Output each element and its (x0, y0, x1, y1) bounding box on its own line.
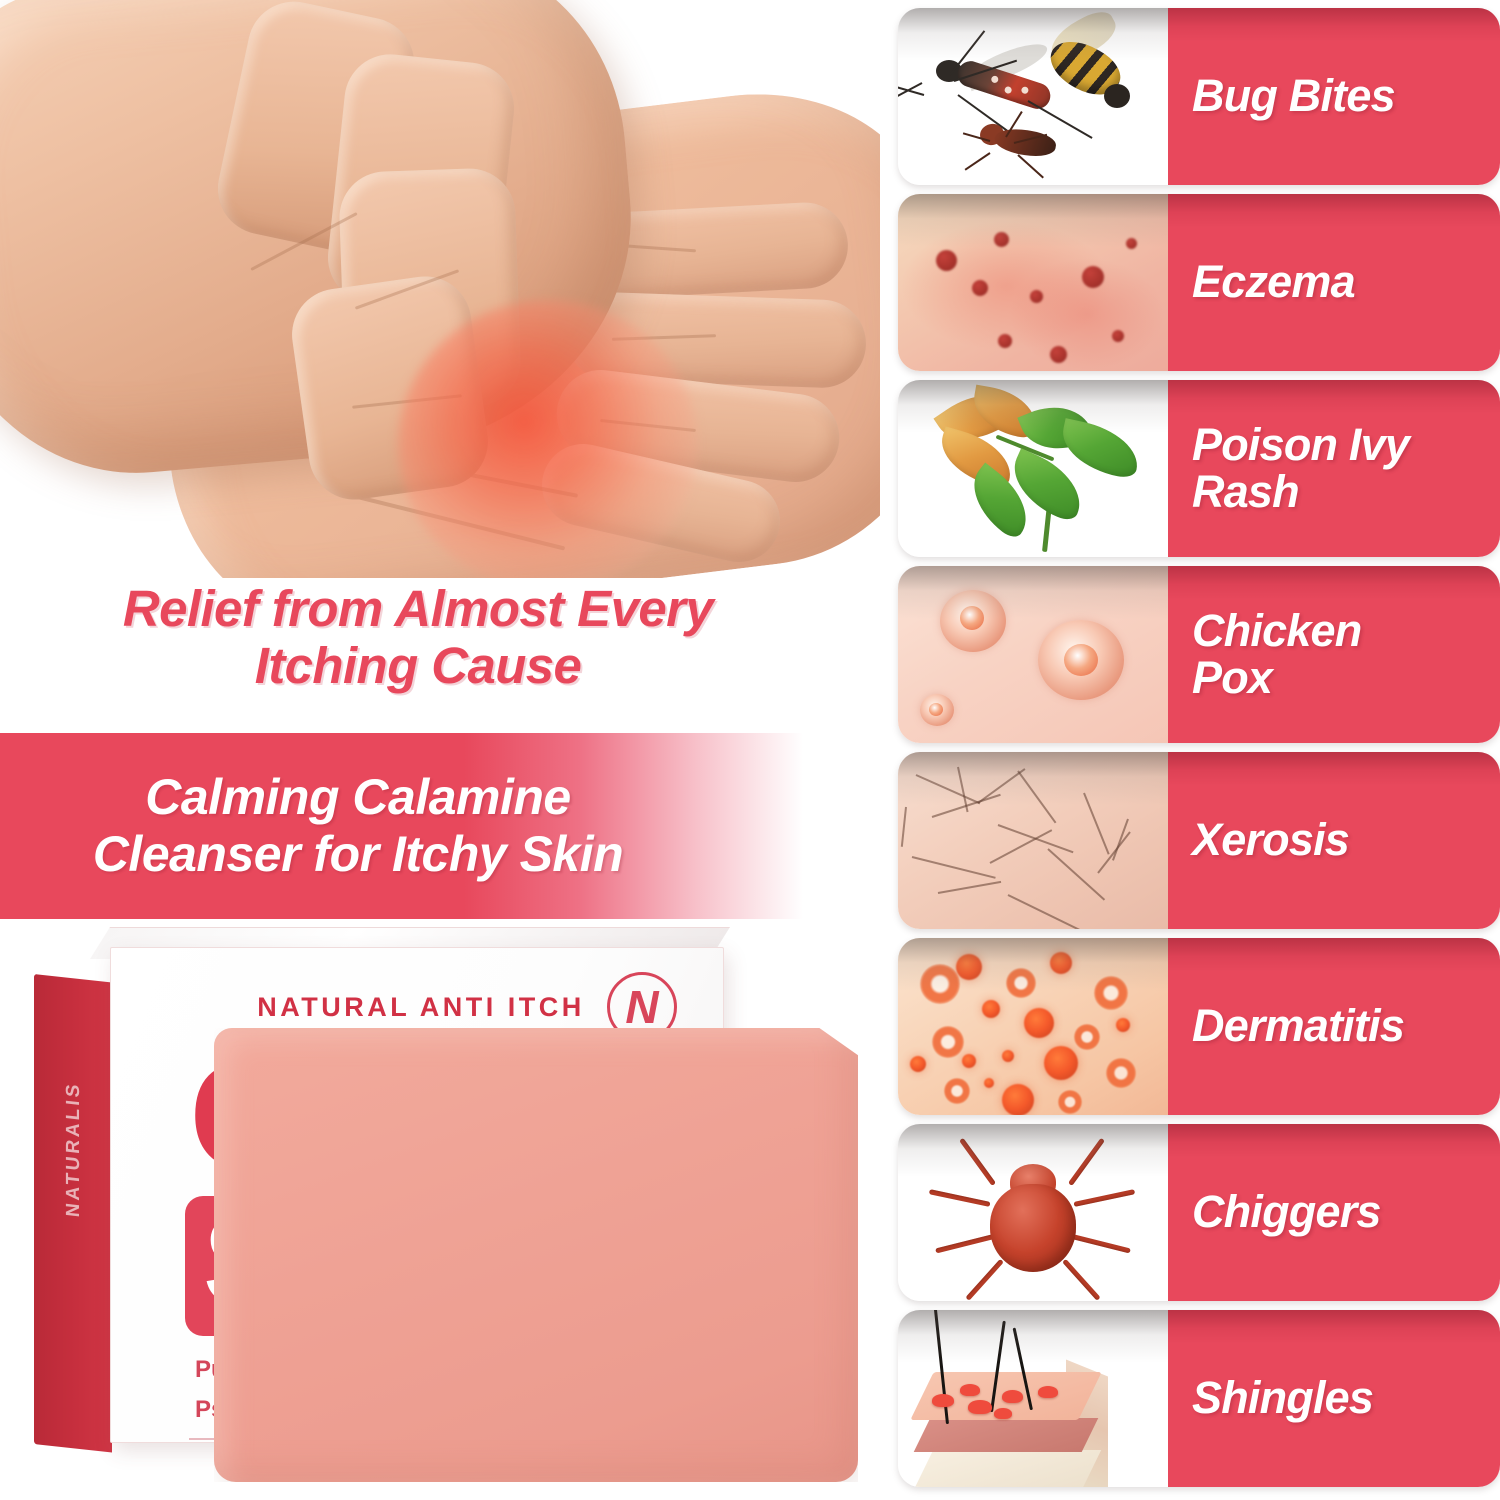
condition-label-wrap: Eczema (1168, 194, 1500, 371)
box-side-panel: NATURALIS (34, 974, 112, 1452)
conditions-list: Bug Bites Eczema (898, 8, 1500, 1496)
condition-label-wrap: Chiggers (1168, 1124, 1500, 1301)
condition-card-shingles[interactable]: Shingles (898, 1310, 1500, 1487)
condition-label: Xerosis (1192, 817, 1349, 864)
condition-label: Chiggers (1192, 1189, 1381, 1236)
itchy-hand-photo (0, 0, 880, 578)
condition-label-wrap: Chicken Pox (1168, 566, 1500, 743)
condition-card-chiggers[interactable]: Chiggers (898, 1124, 1500, 1301)
box-side-brand-text: NATURALIS (63, 1050, 85, 1248)
condition-card-xerosis[interactable]: Xerosis (898, 752, 1500, 929)
chigger-mite-icon (898, 1124, 1168, 1301)
calamine-soap-bar (214, 1028, 858, 1482)
headline-line-2: Itching Cause (18, 637, 818, 694)
dermatitis-skin-icon (898, 938, 1168, 1115)
condition-label-wrap: Xerosis (1168, 752, 1500, 929)
condition-label-wrap: Dermatitis (1168, 938, 1500, 1115)
condition-label-wrap: Shingles (1168, 1310, 1500, 1487)
condition-label: Eczema (1192, 259, 1355, 306)
condition-label: Poison Ivy Rash (1192, 422, 1409, 516)
shingles-skin-block-icon (898, 1310, 1168, 1487)
condition-label-wrap: Poison Ivy Rash (1168, 380, 1500, 557)
eczema-skin-icon (898, 194, 1168, 371)
promo-line-1: Calming Calamine (0, 769, 716, 826)
condition-card-poison-ivy-rash[interactable]: Poison Ivy Rash (898, 380, 1500, 557)
condition-card-eczema[interactable]: Eczema (898, 194, 1500, 371)
left-column: Relief from Almost Every Itching Cause C… (0, 0, 880, 1500)
promo-banner-text: Calming Calamine Cleanser for Itchy Skin (0, 769, 716, 883)
promo-banner: Calming Calamine Cleanser for Itchy Skin (0, 733, 828, 919)
condition-label: Chicken Pox (1192, 608, 1361, 702)
page-headline: Relief from Almost Every Itching Cause (18, 580, 818, 694)
dry-cracked-skin-icon (898, 752, 1168, 929)
irritated-skin-highlight (398, 300, 698, 578)
chicken-pox-skin-icon (898, 566, 1168, 743)
condition-card-chicken-pox[interactable]: Chicken Pox (898, 566, 1500, 743)
box-kicker-text: NATURAL ANTI ITCH (201, 992, 641, 1023)
condition-card-bug-bites[interactable]: Bug Bites (898, 8, 1500, 185)
condition-card-dermatitis[interactable]: Dermatitis (898, 938, 1500, 1115)
headline-line-1: Relief from Almost Every (18, 580, 818, 637)
poison-ivy-leaf-icon (898, 380, 1168, 557)
promo-line-2: Cleanser for Itchy Skin (0, 826, 716, 883)
bugs-icon (898, 8, 1168, 185)
condition-label: Bug Bites (1192, 73, 1395, 120)
product-infographic: Relief from Almost Every Itching Cause C… (0, 0, 1500, 1500)
condition-label: Shingles (1192, 1375, 1373, 1422)
condition-label: Dermatitis (1192, 1003, 1404, 1050)
condition-label-wrap: Bug Bites (1168, 8, 1500, 185)
